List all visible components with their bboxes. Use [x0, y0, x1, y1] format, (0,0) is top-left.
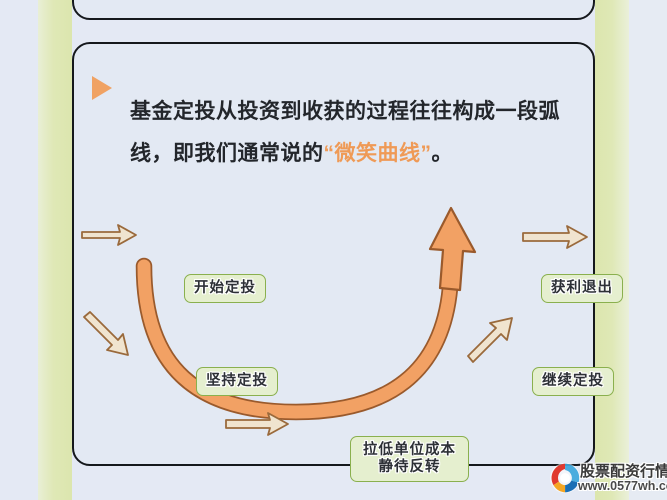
smile-curve-diagram: 开始定投 坚持定投 拉低单位成本 静待反转 获利退出 继续定投 — [74, 204, 593, 464]
arrow-continue-upright-icon — [468, 318, 512, 362]
tag-profit-exit: 获利退出 — [541, 274, 623, 303]
watermark-url: www.0577wh.com — [578, 479, 667, 493]
headline-line-1: 基金定投从投资到收获的过程往往构 — [130, 100, 474, 123]
headline-text: 基金定投从投资到收获的过程往往构成一段弧线，即我们通常说的“微笑曲线”。 — [130, 91, 571, 175]
tag-continue-investing: 继续定投 — [532, 367, 614, 396]
headline-highlight-2: 曲线” — [378, 142, 432, 165]
arrow-hold-downright-icon — [84, 312, 128, 355]
tag-lower-cost-line2: 静待反转 — [379, 459, 441, 475]
decorative-band-left — [38, 0, 72, 500]
tag-keep-investing: 坚持定投 — [196, 367, 278, 396]
play-triangle-icon — [92, 76, 112, 100]
tag-lower-cost-wait: 拉低单位成本 静待反转 — [350, 436, 469, 482]
tag-lower-cost-line1: 拉低单位成本 — [363, 442, 456, 458]
tag-start-investing: 开始定投 — [184, 274, 266, 303]
content-card: 基金定投从投资到收获的过程往往构成一段弧线，即我们通常说的“微笑曲线”。 — [72, 42, 595, 466]
previous-card-fragment — [72, 0, 595, 20]
page-root: 基金定投从投资到收获的过程往往构成一段弧线，即我们通常说的“微笑曲线”。 — [0, 0, 667, 500]
headline-period: 。 — [432, 142, 454, 165]
arrow-exit-right-icon — [523, 226, 587, 248]
smile-curve-arrow — [144, 208, 475, 412]
site-watermark: 股票配资行情 www.0577wh.com — [548, 457, 667, 500]
smile-curve-graphic — [74, 204, 593, 464]
watermark-title: 股票配资行情 — [580, 460, 667, 481]
headline-highlight-1: “微笑 — [324, 142, 378, 165]
page-edge-left — [0, 0, 38, 500]
arrow-start-right-icon — [82, 225, 136, 245]
page-edge-right — [629, 0, 667, 500]
decorative-band-right — [595, 0, 629, 500]
